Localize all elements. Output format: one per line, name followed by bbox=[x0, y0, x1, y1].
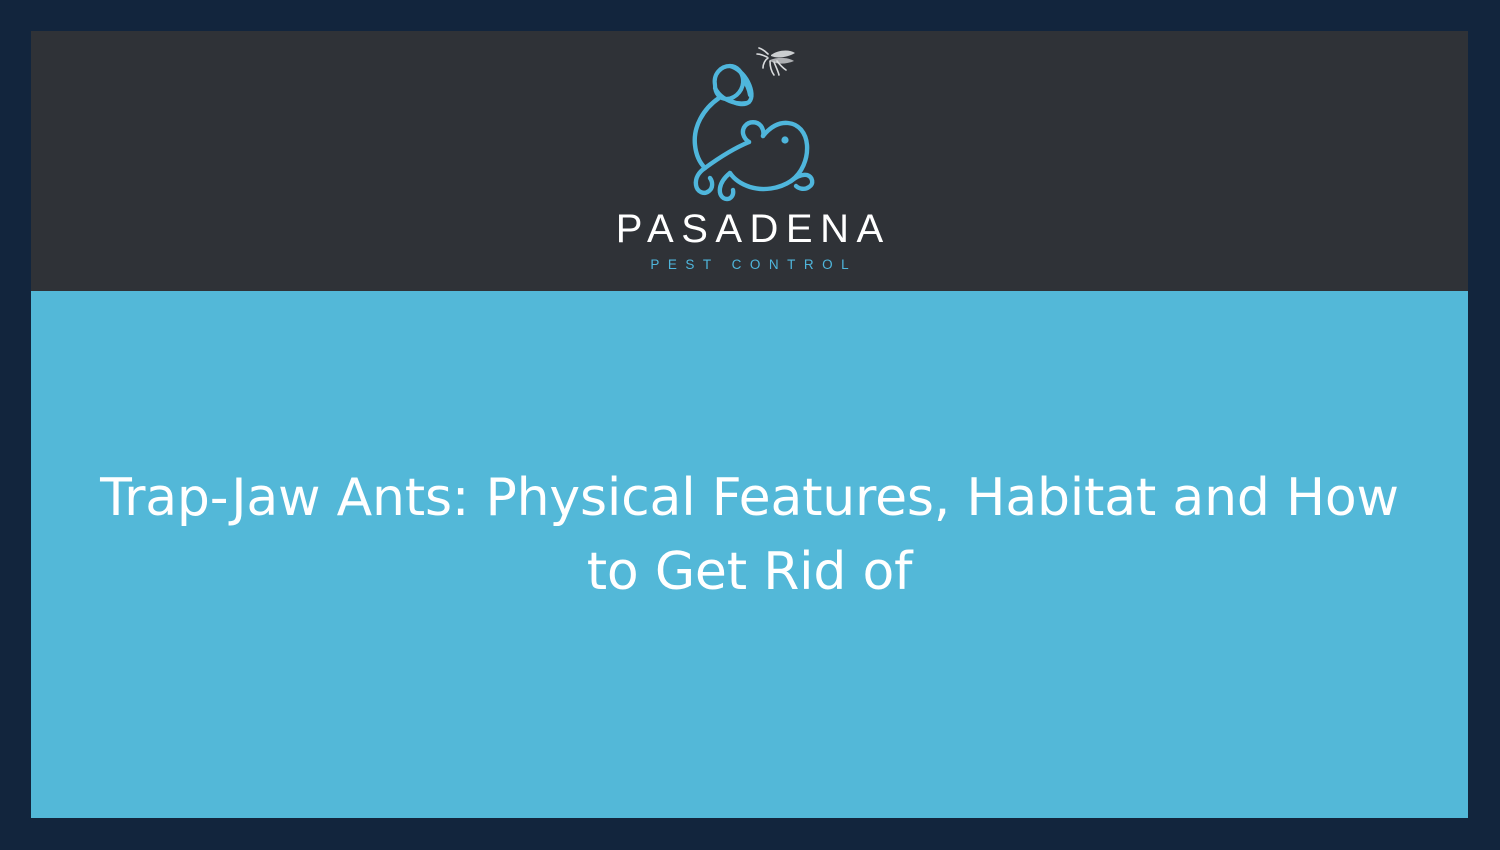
page-title: Trap-Jaw Ants: Physical Features, Habita… bbox=[83, 462, 1416, 610]
brand-logo: PASADENA PEST CONTROL bbox=[600, 35, 900, 287]
mouse-outline-icon bbox=[675, 41, 825, 213]
slide-canvas: PASADENA PEST CONTROL Trap-Jaw Ants: Phy… bbox=[0, 0, 1500, 850]
header-band: PASADENA PEST CONTROL bbox=[31, 31, 1468, 291]
mosquito-icon bbox=[757, 48, 795, 75]
brand-tagline: PEST CONTROL bbox=[642, 258, 857, 272]
content-band: Trap-Jaw Ants: Physical Features, Habita… bbox=[31, 291, 1468, 818]
mouse-eye-icon bbox=[781, 136, 788, 143]
brand-name: PASADENA bbox=[608, 209, 890, 249]
